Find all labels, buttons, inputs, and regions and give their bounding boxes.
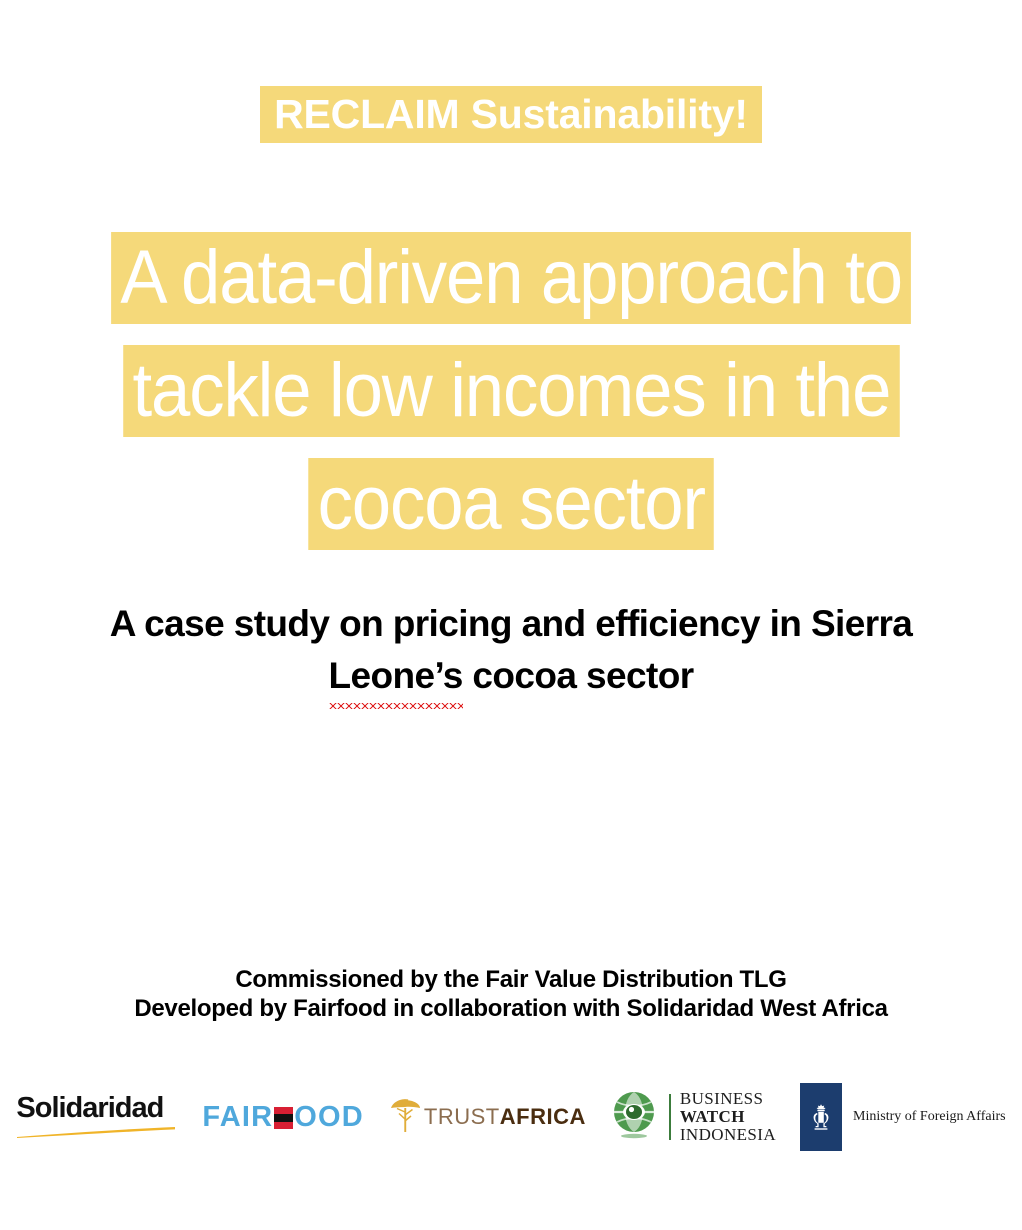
dutch-coat-of-arms-icon: [806, 1102, 836, 1132]
logo-trustafrica-text: TRUSTAFRICA: [424, 1105, 586, 1129]
subtitle-line-2: Leone’s cocoa sector: [30, 650, 992, 702]
solidaridad-swoosh-icon: [16, 1125, 176, 1143]
logo-bwi-line-2: WATCH: [680, 1108, 776, 1126]
title-line-3-text: cocoa sector: [308, 458, 714, 550]
bwi-divider: [669, 1094, 671, 1140]
spellcheck-squiggle-underline: [329, 703, 463, 709]
programme-kicker: RECLAIM Sustainability!: [0, 86, 1022, 143]
title-line-1-text: A data-driven approach to: [111, 232, 911, 324]
programme-kicker-label: RECLAIM Sustainability!: [260, 86, 762, 143]
credits-line-developed: Developed by Fairfood in collaboration w…: [30, 994, 992, 1023]
title-line-2: tackle low incomes in the: [0, 345, 1022, 458]
subtitle-line-1: A case study on pricing and efficiency i…: [30, 598, 992, 650]
title-line-2-text: tackle low incomes in the: [123, 345, 899, 437]
logo-mfa-label: Ministry of Foreign Affairs: [853, 1109, 1006, 1125]
spellcheck-word: Leone’s: [329, 650, 463, 702]
logo-fairfood: FAIR OOD: [202, 1100, 364, 1134]
logo-ministry-of-foreign-affairs: Ministry of Foreign Affairs: [800, 1083, 1006, 1151]
logo-bwi-line-1: BUSINESS: [680, 1090, 776, 1108]
logo-bwi-words: BUSINESS WATCH INDONESIA: [680, 1090, 776, 1144]
logo-bwi-line-3: INDONESIA: [680, 1126, 776, 1144]
logo-business-watch-indonesia: BUSINESS WATCH INDONESIA: [610, 1089, 776, 1146]
partner-logo-bar: Solidaridad FAIR OOD TRU: [0, 1078, 1022, 1156]
logo-trustafrica-part1: TRUST: [424, 1104, 500, 1129]
title-line-3: cocoa sector: [0, 458, 1022, 571]
subtitle-line-2-rest: cocoa sector: [463, 655, 694, 696]
page-subtitle: A case study on pricing and efficiency i…: [30, 598, 992, 702]
logo-trustafrica-part2: AFRICA: [500, 1104, 586, 1129]
credits-block: Commissioned by the Fair Value Distribut…: [30, 965, 992, 1023]
page-title: A data-driven approach to tackle low inc…: [0, 232, 1022, 571]
title-line-1: A data-driven approach to: [0, 232, 1022, 345]
credits-line-commissioned: Commissioned by the Fair Value Distribut…: [30, 965, 992, 994]
acacia-tree-icon: [388, 1096, 422, 1139]
logo-solidaridad: Solidaridad: [16, 1092, 178, 1143]
logo-trustafrica: TRUSTAFRICA: [388, 1096, 586, 1139]
logo-solidaridad-wordmark: Solidaridad: [16, 1092, 163, 1124]
dutch-government-panel: [800, 1083, 842, 1151]
spellcheck-word-text: Leone’s: [329, 655, 463, 696]
logo-fairfood-part2: OOD: [294, 1102, 364, 1132]
logo-fairfood-part1: FAIR: [202, 1102, 273, 1132]
cover-page: RECLAIM Sustainability! A data-driven ap…: [0, 0, 1022, 1230]
green-globe-eye-icon: [610, 1089, 660, 1146]
fairfood-flag-f-icon: [274, 1107, 293, 1129]
